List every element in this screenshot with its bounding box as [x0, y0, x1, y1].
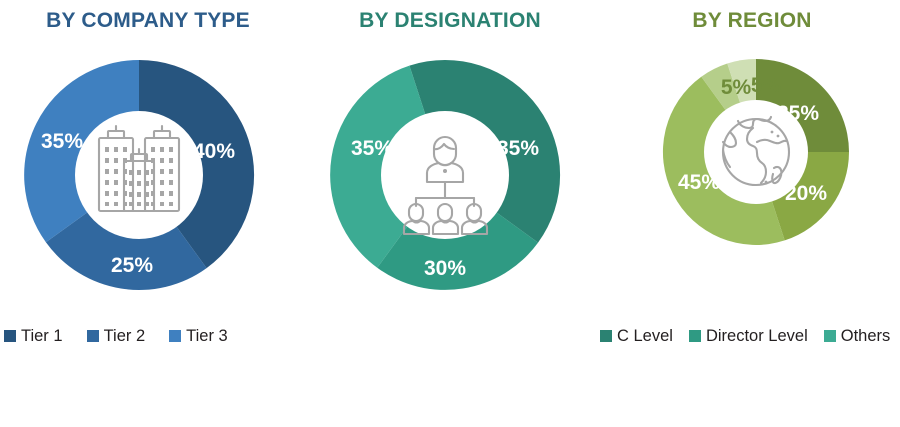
chart-title-company-type: BY COMPANY TYPE	[0, 8, 296, 34]
legend-swatch-tier3	[169, 330, 181, 342]
legend-item-tier3[interactable]: Tier 3	[169, 326, 228, 346]
chart-panel-region: BY REGION	[604, 0, 900, 427]
slice-value-others: 35%	[351, 137, 393, 160]
slice-value-tier1: 40%	[193, 140, 235, 163]
slice-value-tier2: 25%	[111, 254, 153, 277]
slice-value-south-america: 5%	[721, 76, 752, 99]
legend-label-tier3: Tier 3	[186, 326, 228, 346]
slice-value-c-level: 35%	[497, 137, 539, 160]
legend-label-tier1: Tier 1	[21, 326, 63, 346]
slice-value-middle-east-africa: 5%	[751, 74, 782, 97]
chart-title-region: BY REGION	[604, 8, 900, 34]
slice-value-north-america: 25%	[777, 102, 819, 125]
legend-swatch-tier2	[87, 330, 99, 342]
slice-value-director-level: 30%	[424, 257, 466, 280]
legend-item-tier1[interactable]: Tier 1	[4, 326, 63, 346]
donut-chart-designation: 35% 30% 35%	[322, 52, 568, 298]
chart-panel-designation: BY DESIGNATION	[300, 0, 600, 427]
infographic-board: BY COMPANY TYPE	[0, 0, 900, 427]
legend-item-tier2[interactable]: Tier 2	[87, 326, 146, 346]
legend-swatch-tier1	[4, 330, 16, 342]
chart-panel-company-type: BY COMPANY TYPE	[0, 0, 296, 427]
donut-chart-region: 25% 20% 45% 5% 5%	[656, 52, 856, 252]
legend-label-tier2: Tier 2	[104, 326, 146, 346]
slice-value-europe: 20%	[785, 182, 827, 205]
legend-company-type: Tier 1 Tier 2 Tier 3	[4, 326, 296, 346]
donut-hole	[381, 111, 509, 239]
chart-title-designation: BY DESIGNATION	[300, 8, 600, 34]
slice-value-tier3: 35%	[41, 130, 83, 153]
slice-value-asia-pacific: 45%	[678, 171, 720, 194]
donut-chart-company-type: 40% 25% 35%	[16, 52, 262, 298]
